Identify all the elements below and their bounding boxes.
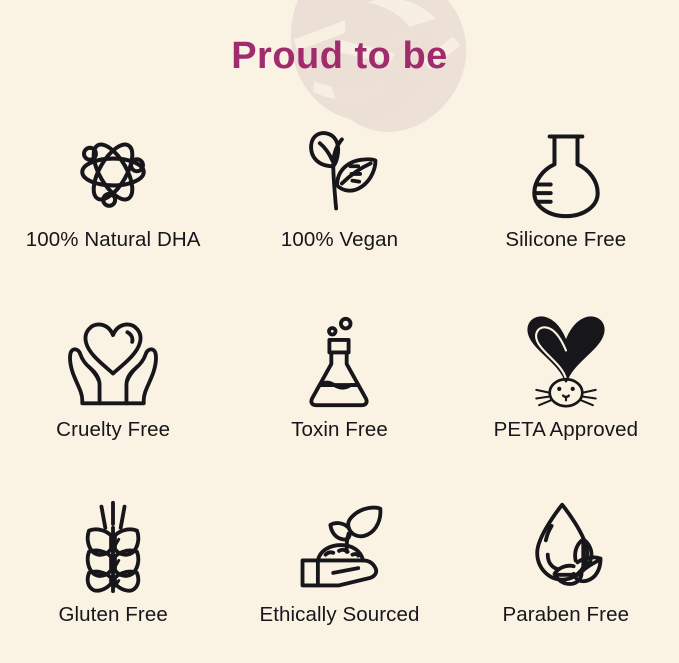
badge-label: 100% Natural DHA xyxy=(26,228,201,252)
water-droplet-leaves-icon xyxy=(518,499,614,595)
badge-label: Toxin Free xyxy=(291,418,388,442)
page-title: Proud to be xyxy=(231,37,448,75)
badge-item-natural-dha: 100% Natural DHA xyxy=(0,112,226,296)
atom-icon xyxy=(65,124,161,220)
badge-page: Proud to be 100% Natural DHA xyxy=(0,0,679,663)
heart-in-hands-icon xyxy=(65,314,161,410)
badge-label: Cruelty Free xyxy=(56,418,170,442)
badge-grid: 100% Natural DHA 100% Vegan xyxy=(0,112,679,663)
badge-item-gluten-free: Gluten Free xyxy=(0,479,226,663)
header: Proud to be xyxy=(0,0,679,112)
badge-label: Ethically Sourced xyxy=(259,603,419,627)
badge-label: Silicone Free xyxy=(505,228,626,252)
badge-label: 100% Vegan xyxy=(281,228,398,252)
hand-holding-soil-sprout-icon xyxy=(291,499,387,595)
sprout-leaves-icon xyxy=(291,124,387,220)
corked-erlenmeyer-flask-icon xyxy=(291,314,387,410)
badge-item-silicone-free: Silicone Free xyxy=(453,112,679,296)
badge-label: Paraben Free xyxy=(503,603,630,627)
round-bottom-flask-icon xyxy=(518,124,614,220)
badge-label: Gluten Free xyxy=(58,603,167,627)
badge-item-ethically-sourced: Ethically Sourced xyxy=(226,479,452,663)
wheat-stalk-icon xyxy=(65,499,161,595)
badge-item-vegan: 100% Vegan xyxy=(226,112,452,296)
badge-label: PETA Approved xyxy=(494,418,639,442)
badge-item-toxin-free: Toxin Free xyxy=(226,296,452,480)
badge-item-paraben-free: Paraben Free xyxy=(453,479,679,663)
badge-item-peta-approved: PETA Approved xyxy=(453,296,679,480)
peta-bunny-heart-icon xyxy=(518,314,614,410)
badge-item-cruelty-free: Cruelty Free xyxy=(0,296,226,480)
